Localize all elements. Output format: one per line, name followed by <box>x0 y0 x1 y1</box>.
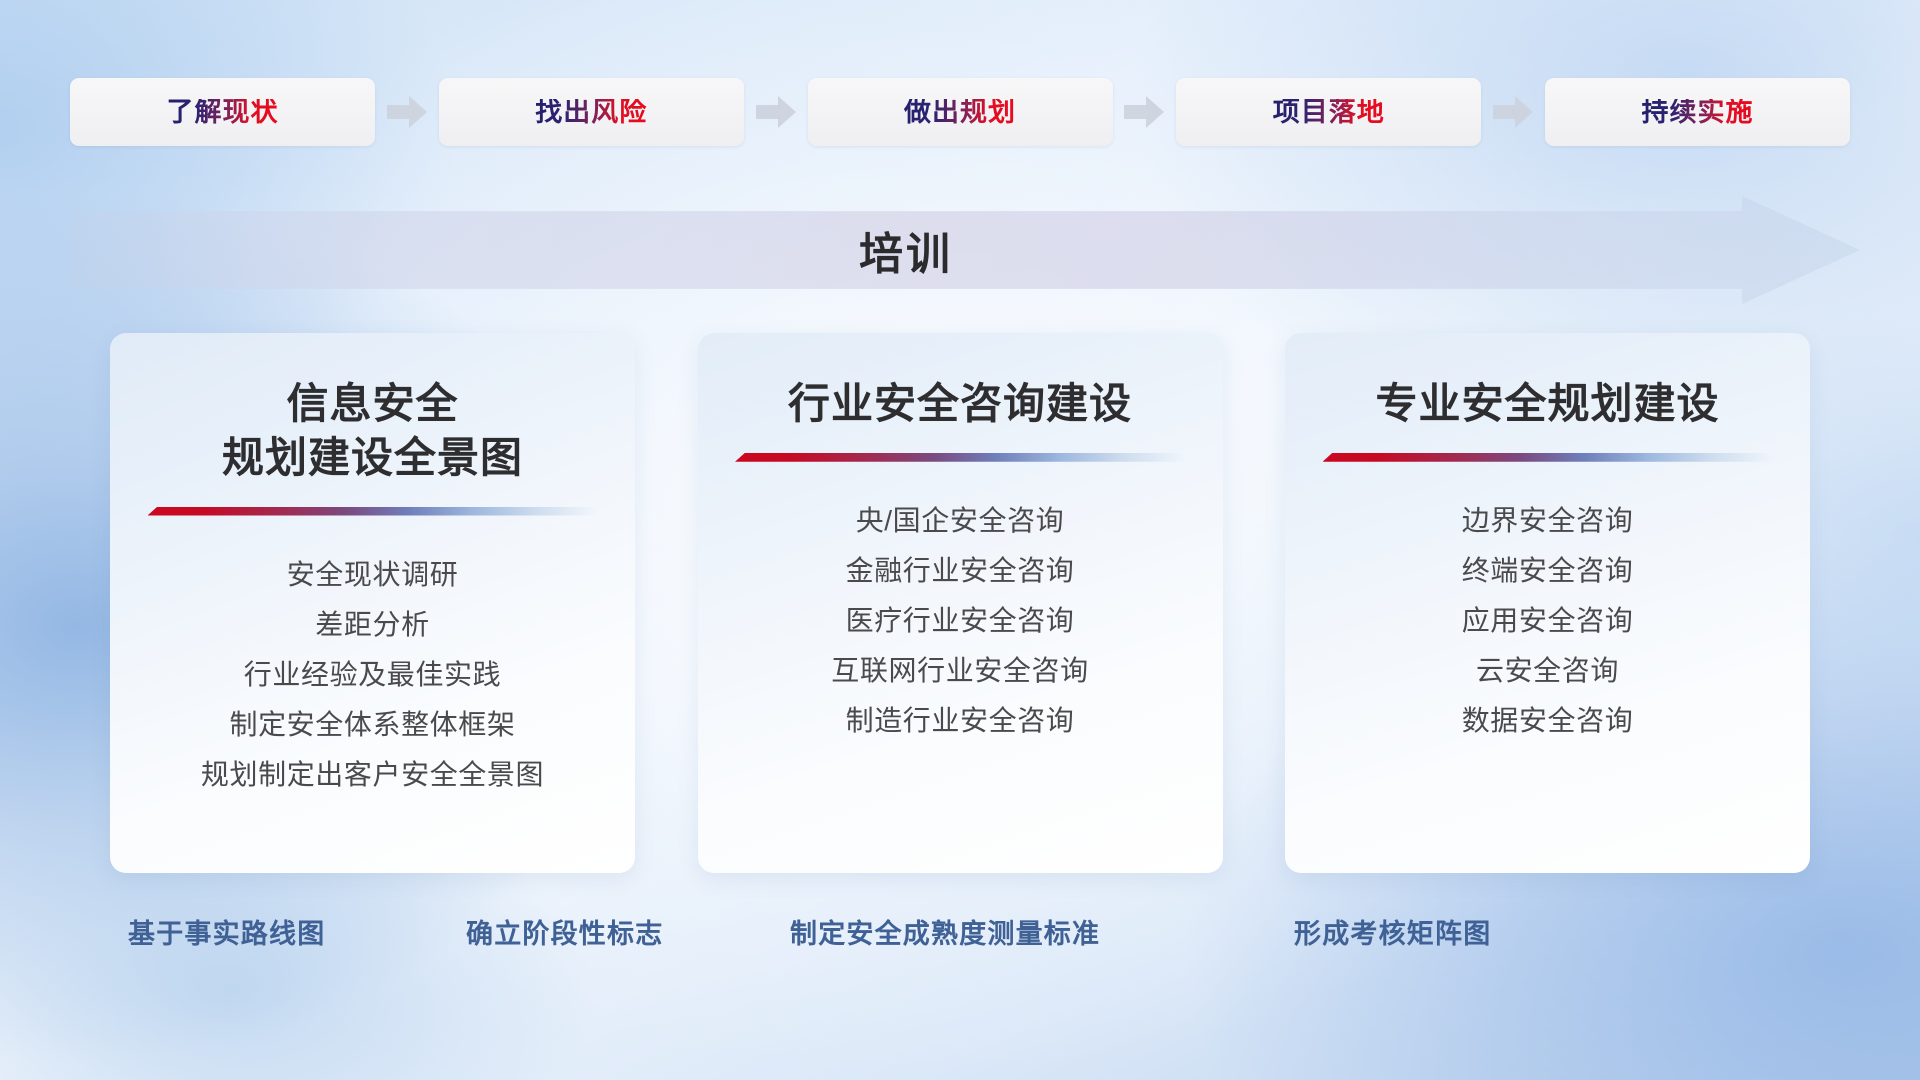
gradient-divider <box>1323 453 1773 462</box>
list-item: 行业经验及最佳实践 <box>244 650 501 700</box>
process-step-2[interactable]: 找出风险 <box>439 78 744 146</box>
caption-row: 基于事实路线图确立阶段性标志制定安全成熟度测量标准形成考核矩阵图 <box>0 912 1920 958</box>
process-step-label: 持续实施 <box>1642 99 1754 126</box>
list-item: 终端安全咨询 <box>1462 546 1634 596</box>
process-step-label: 了解现状 <box>167 99 279 126</box>
list-item: 安全现状调研 <box>287 550 459 600</box>
list-item: 金融行业安全咨询 <box>846 546 1075 596</box>
service-card-list: 边界安全咨询终端安全咨询应用安全咨询云安全咨询数据安全咨询 <box>1285 496 1810 746</box>
list-item: 边界安全咨询 <box>1462 496 1634 546</box>
process-step-label: 项目落地 <box>1273 99 1385 126</box>
service-card-list: 央/国企安全咨询金融行业安全咨询医疗行业安全咨询互联网行业安全咨询制造行业安全咨… <box>698 496 1223 746</box>
service-card-2[interactable]: 行业安全咨询建设央/国企安全咨询金融行业安全咨询医疗行业安全咨询互联网行业安全咨… <box>698 333 1223 873</box>
list-item: 央/国企安全咨询 <box>856 496 1065 546</box>
caption-2: 确立阶段性标志 <box>466 912 663 951</box>
arrow-right-icon <box>1124 95 1164 129</box>
list-item: 医疗行业安全咨询 <box>846 596 1075 646</box>
caption-3: 制定安全成熟度测量标准 <box>790 912 1100 951</box>
list-item: 差距分析 <box>315 600 429 650</box>
arrow-right-icon <box>1493 95 1533 129</box>
list-item: 规划制定出客户安全全景图 <box>201 750 544 800</box>
list-item: 应用安全咨询 <box>1462 596 1634 646</box>
service-card-1[interactable]: 信息安全 规划建设全景图安全现状调研差距分析行业经验及最佳实践制定安全体系整体框… <box>110 333 635 873</box>
process-step-5[interactable]: 持续实施 <box>1545 78 1850 146</box>
list-item: 数据安全咨询 <box>1462 696 1634 746</box>
service-card-inner: 信息安全 规划建设全景图安全现状调研差距分析行业经验及最佳实践制定安全体系整体框… <box>110 333 635 873</box>
caption-1: 基于事实路线图 <box>128 912 325 951</box>
service-card-inner: 行业安全咨询建设央/国企安全咨询金融行业安全咨询医疗行业安全咨询互联网行业安全咨… <box>698 333 1223 873</box>
service-card-list: 安全现状调研差距分析行业经验及最佳实践制定安全体系整体框架规划制定出客户安全全景… <box>110 550 635 800</box>
list-item: 制定安全体系整体框架 <box>229 700 515 750</box>
list-item: 云安全咨询 <box>1476 646 1619 696</box>
training-banner: 培训 <box>70 196 1860 304</box>
caption-4: 形成考核矩阵图 <box>1294 912 1491 951</box>
gradient-divider <box>148 507 598 516</box>
process-step-3[interactable]: 做出规划 <box>808 78 1113 146</box>
service-card-title: 行业安全咨询建设 <box>788 377 1132 431</box>
process-step-4[interactable]: 项目落地 <box>1176 78 1481 146</box>
service-card-title: 专业安全规划建设 <box>1375 377 1719 431</box>
process-step-label: 做出规划 <box>904 99 1016 126</box>
service-card-row: 信息安全 规划建设全景图安全现状调研差距分析行业经验及最佳实践制定安全体系整体框… <box>110 333 1810 878</box>
banner-title: 培训 <box>70 196 1742 304</box>
gradient-divider <box>735 453 1185 462</box>
arrow-right-icon <box>387 95 427 129</box>
process-step-label: 找出风险 <box>535 99 647 126</box>
service-card-title: 信息安全 规划建设全景图 <box>222 377 523 485</box>
list-item: 制造行业安全咨询 <box>846 696 1075 746</box>
service-card-3[interactable]: 专业安全规划建设边界安全咨询终端安全咨询应用安全咨询云安全咨询数据安全咨询 <box>1285 333 1810 873</box>
service-card-inner: 专业安全规划建设边界安全咨询终端安全咨询应用安全咨询云安全咨询数据安全咨询 <box>1285 333 1810 873</box>
process-step-row: 了解现状找出风险做出规划项目落地持续实施 <box>70 76 1850 148</box>
arrow-right-icon <box>756 95 796 129</box>
list-item: 互联网行业安全咨询 <box>831 646 1088 696</box>
process-step-1[interactable]: 了解现状 <box>70 78 375 146</box>
